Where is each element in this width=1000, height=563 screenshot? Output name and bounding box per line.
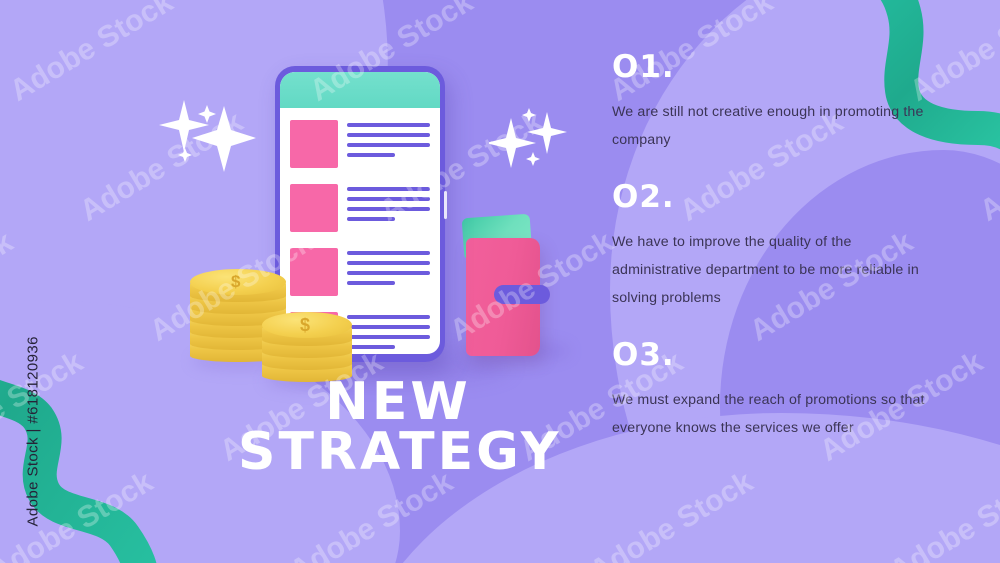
point-02: O2. We have to improve the quality of th… bbox=[612, 182, 942, 312]
text-line bbox=[347, 271, 430, 275]
text-line bbox=[347, 217, 395, 221]
dollar-symbol: $ bbox=[300, 315, 310, 336]
list-item-lines bbox=[347, 312, 430, 354]
text-line bbox=[347, 143, 430, 147]
point-03-number: O3. bbox=[612, 340, 942, 371]
illustration-mobile-document: $ $ bbox=[0, 0, 620, 420]
point-01: O1. We are still not creative enough in … bbox=[612, 52, 942, 154]
list-item-thumbnail bbox=[290, 120, 338, 168]
list-item-thumbnail bbox=[290, 248, 338, 296]
watermark-text: Adobe Stock bbox=[884, 465, 1000, 563]
presentation-slide: $ $ NEW STRATEGY O1. We are still not cr… bbox=[0, 0, 1000, 563]
text-line bbox=[347, 133, 430, 137]
point-02-number: O2. bbox=[612, 182, 942, 213]
stock-credit-label: Adobe Stock | #618120936 bbox=[25, 267, 42, 527]
text-line bbox=[347, 153, 395, 157]
watermark-text: Adobe Stock bbox=[974, 105, 1000, 229]
text-line bbox=[347, 251, 430, 255]
point-02-text: We have to improve the quality of the ad… bbox=[612, 229, 937, 312]
list-item bbox=[290, 120, 430, 168]
text-line bbox=[347, 207, 430, 211]
credit-divider bbox=[23, 0, 25, 563]
text-line bbox=[347, 261, 430, 265]
page-title-line-2: STRATEGY bbox=[238, 428, 558, 478]
list-item-thumbnail bbox=[290, 184, 338, 232]
text-line bbox=[347, 281, 395, 285]
point-01-number: O1. bbox=[612, 52, 942, 83]
watermark-text: Adobe Stock bbox=[584, 465, 759, 563]
phone-app-header bbox=[280, 72, 440, 108]
text-line bbox=[347, 345, 395, 349]
page-title: NEW STRATEGY bbox=[238, 378, 558, 478]
text-line bbox=[347, 315, 430, 319]
wallet-strap bbox=[494, 285, 550, 304]
phone-side-button bbox=[444, 191, 447, 219]
list-item-lines bbox=[347, 248, 430, 296]
text-line bbox=[347, 335, 430, 339]
text-line bbox=[347, 187, 430, 191]
dollar-symbol: $ bbox=[231, 272, 240, 292]
point-03: O3. We must expand the reach of promotio… bbox=[612, 340, 942, 442]
text-line bbox=[347, 123, 430, 127]
text-line bbox=[347, 325, 430, 329]
text-line bbox=[347, 197, 430, 201]
page-title-line-1: NEW bbox=[238, 378, 558, 428]
list-item bbox=[290, 184, 430, 232]
list-item-lines bbox=[347, 184, 430, 232]
point-03-text: We must expand the reach of promotions s… bbox=[612, 387, 937, 442]
points-list: O1. We are still not creative enough in … bbox=[612, 52, 942, 471]
list-item bbox=[290, 248, 430, 296]
list-item-lines bbox=[347, 120, 430, 168]
point-01-text: We are still not creative enough in prom… bbox=[612, 99, 937, 154]
